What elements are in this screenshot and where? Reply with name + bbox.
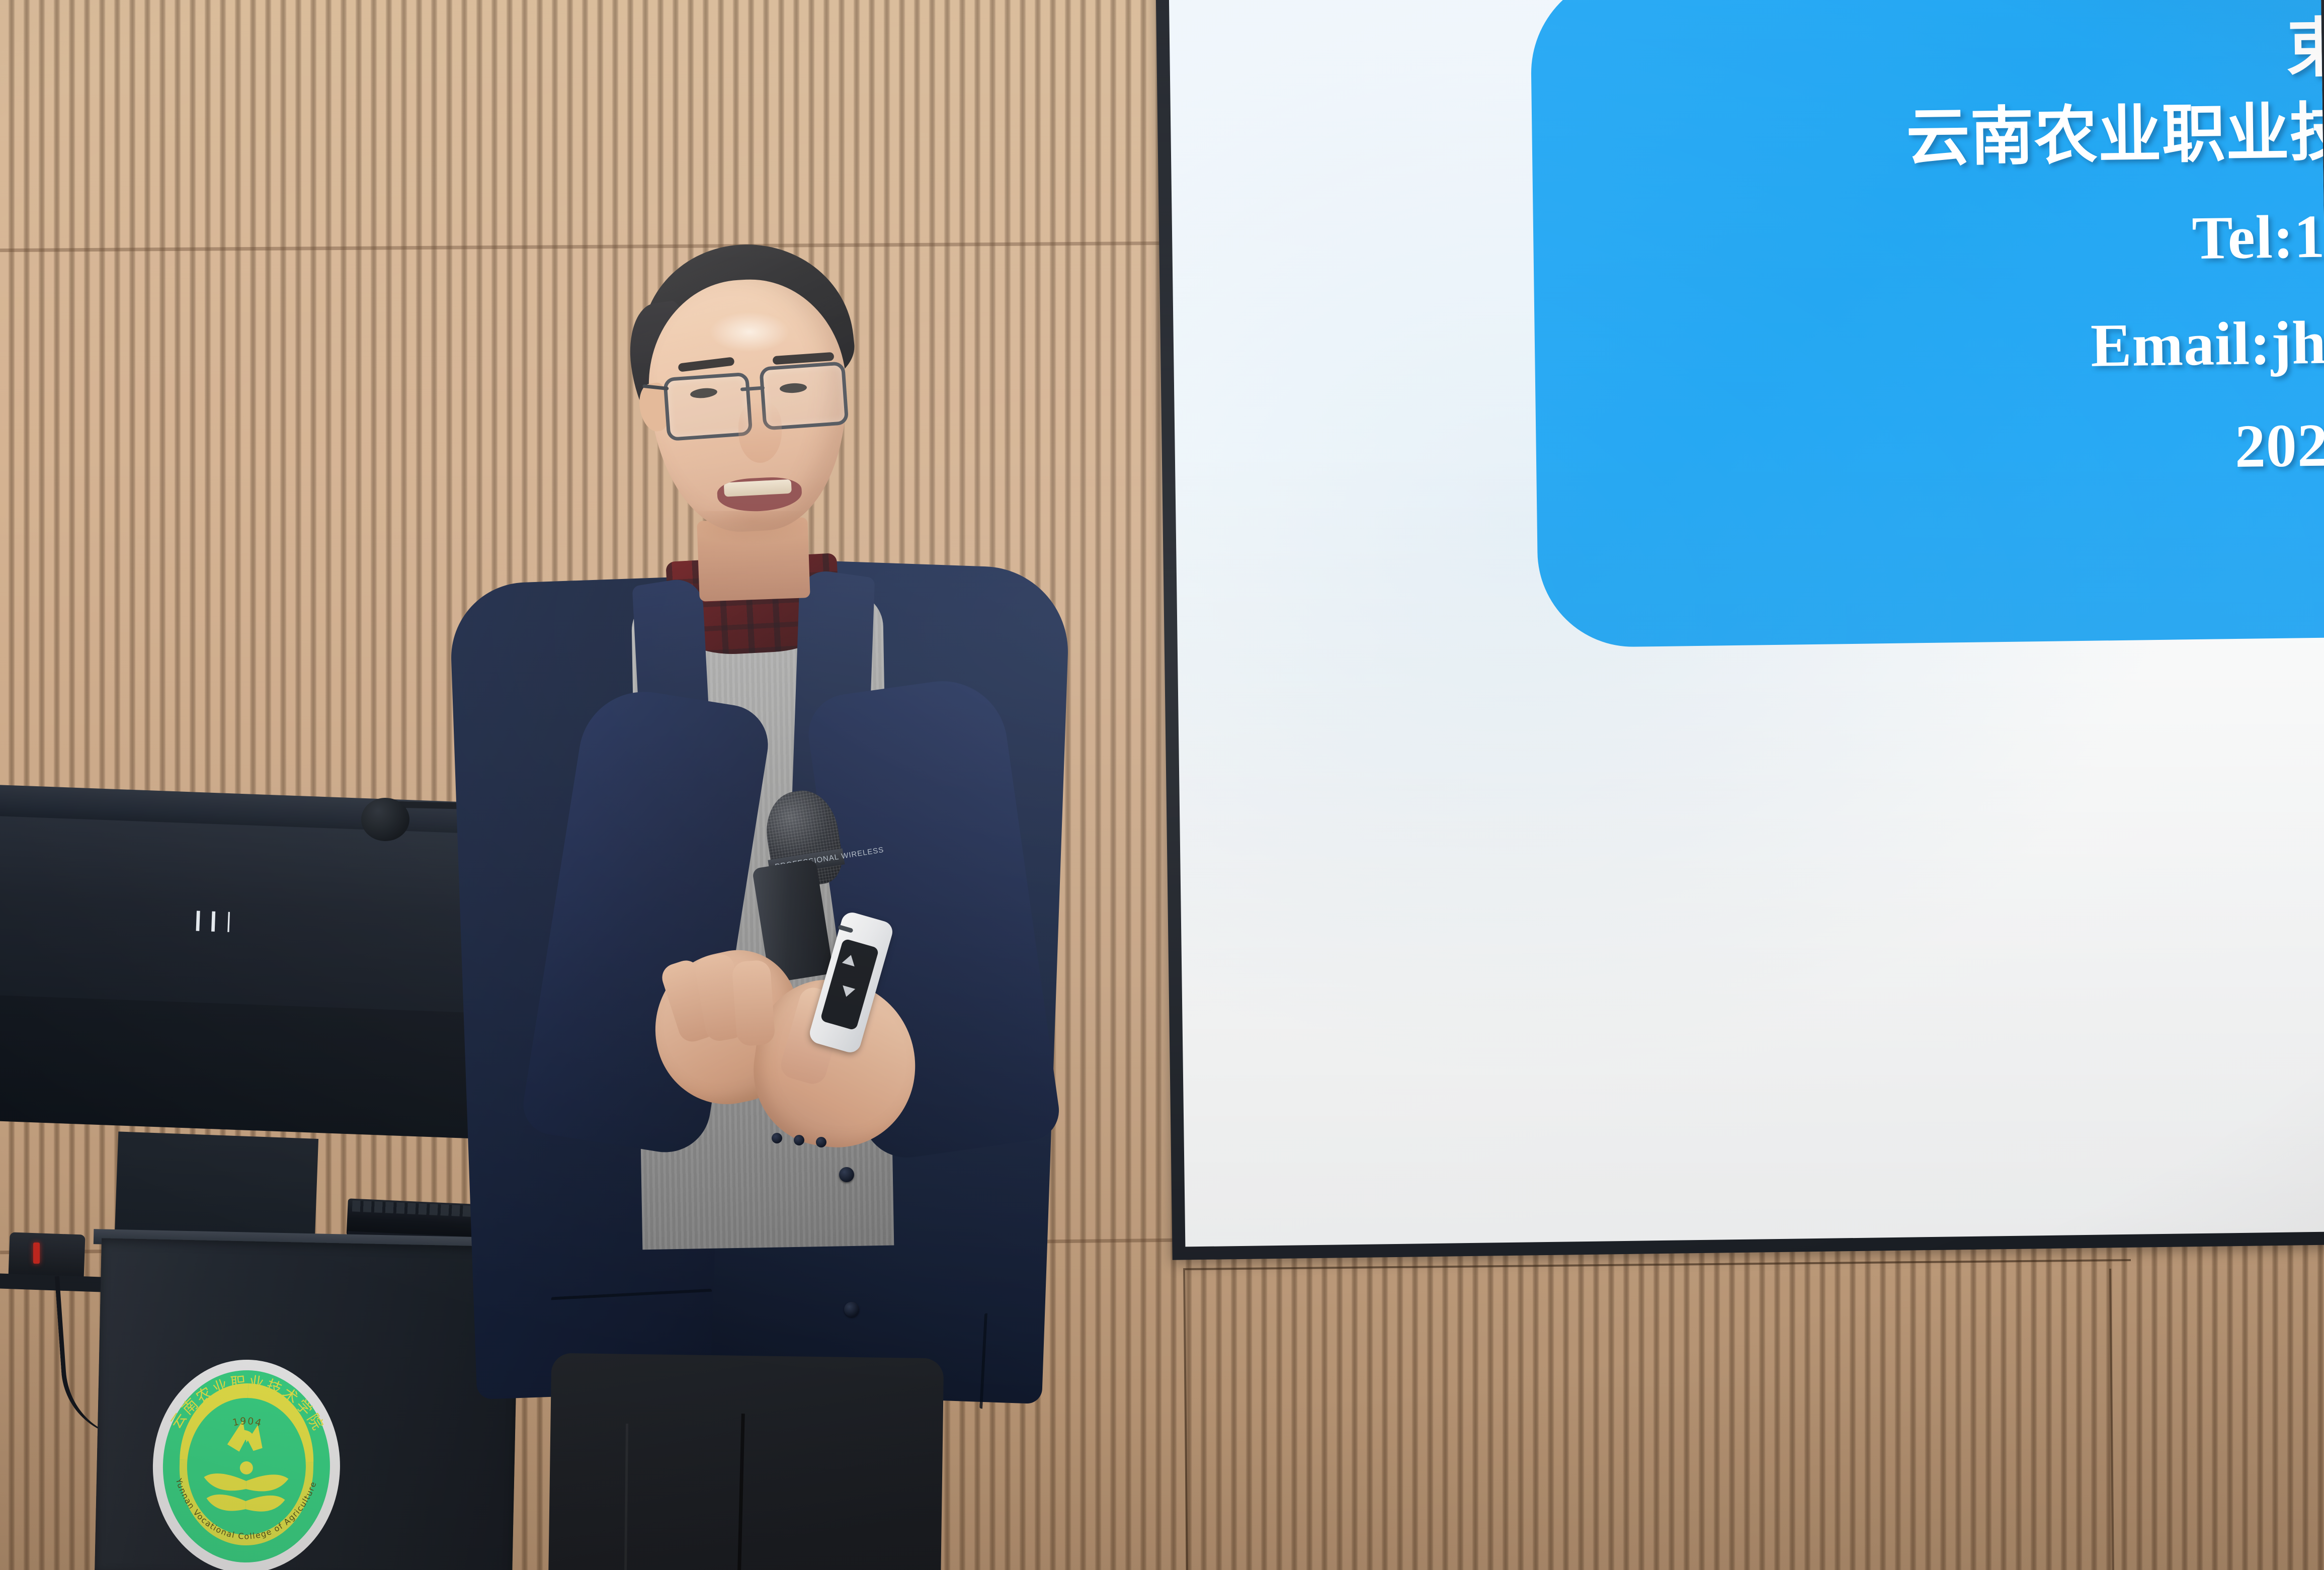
presentation-photo: 束金 云南农业职业技术 Tel:1896 Email:jhshu 2025年 ❙… — [0, 0, 2324, 1570]
scene-vignette — [0, 0, 2324, 1570]
